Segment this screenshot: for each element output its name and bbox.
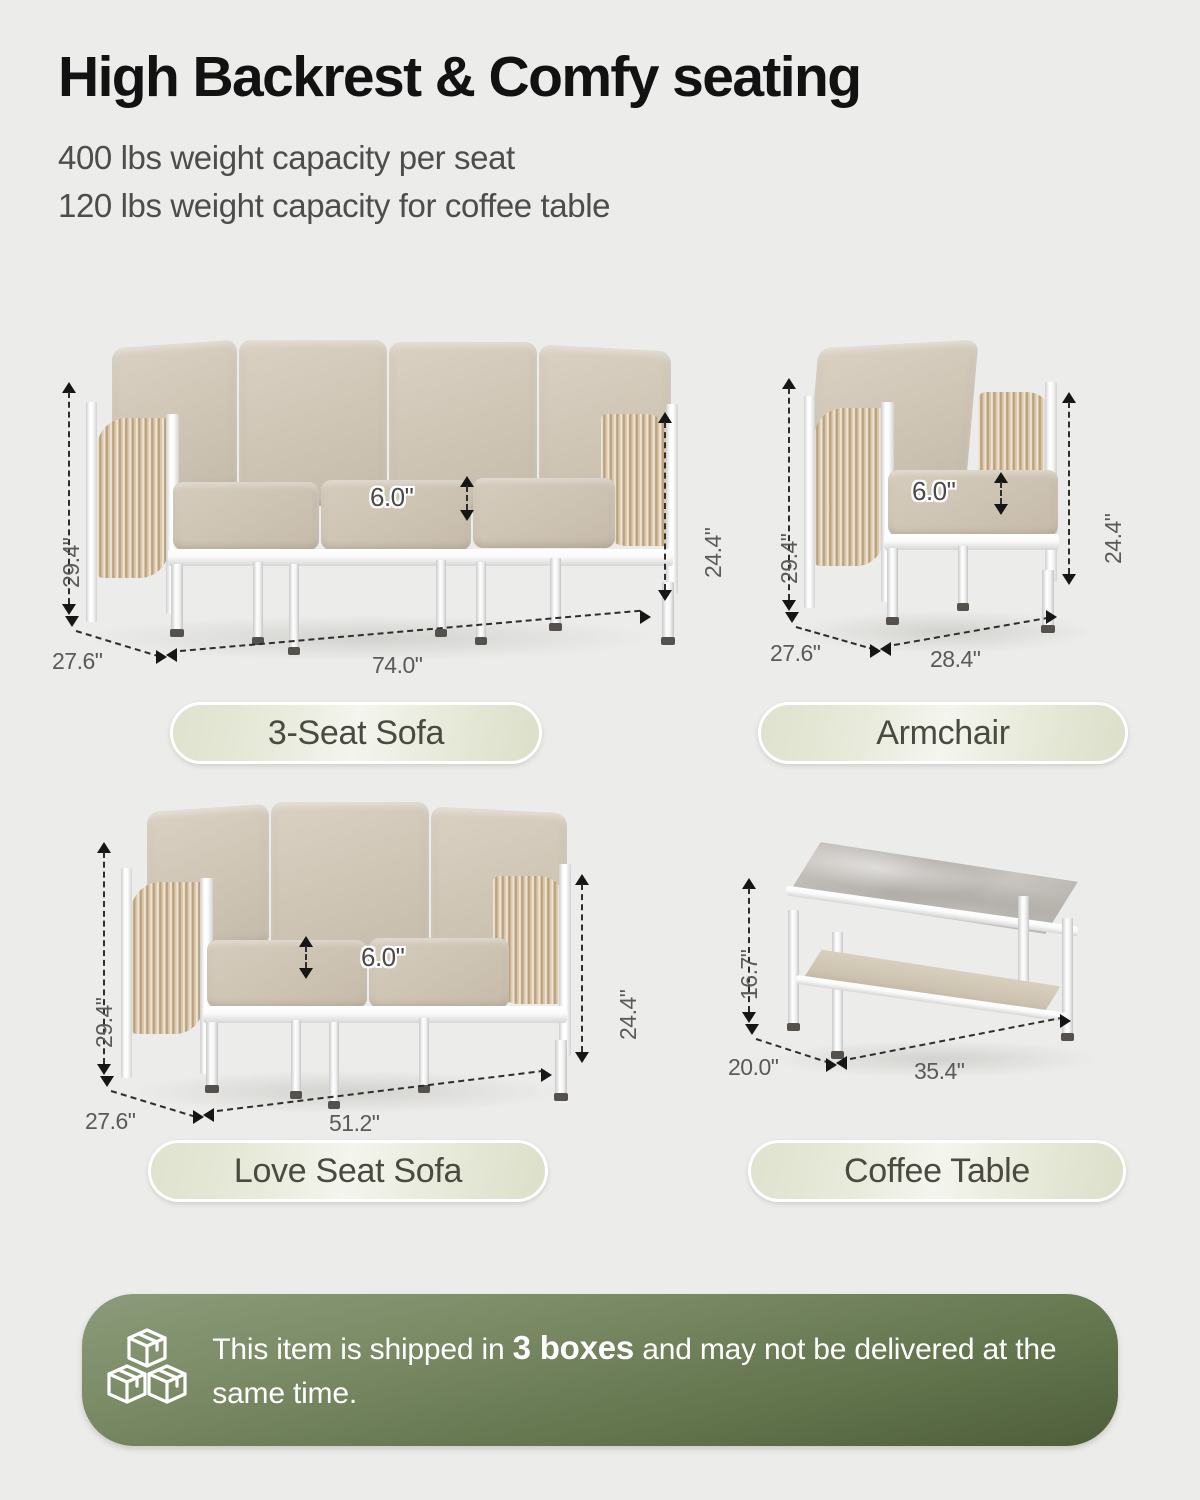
shipping-banner-text: This item is shipped in 3 boxes and may … [212, 1324, 1118, 1415]
leg [291, 1020, 301, 1094]
leg [832, 932, 843, 1054]
stacked-boxes-icon [82, 1324, 212, 1416]
leg [958, 546, 968, 606]
leg [436, 560, 446, 632]
shipping-text-before: This item is shipped in [212, 1333, 512, 1366]
leg [289, 564, 299, 650]
seat-cushion [473, 478, 615, 548]
product-diagram-grid: 29.4" 24.4" 6.0" 27.6" 74.0" [0, 330, 1200, 1260]
rope-arm-left [97, 418, 169, 578]
seat-cushion [207, 940, 367, 1008]
seat-cushion [173, 482, 319, 550]
frame-post [86, 402, 97, 622]
label-pill-armchair: Armchair [758, 702, 1128, 764]
label-pill-three-seat-sofa: 3-Seat Sofa [170, 702, 542, 764]
frame-post [121, 868, 132, 1078]
leg [206, 1022, 218, 1088]
leg [555, 1040, 567, 1096]
shipping-boxes-count: 3 boxes [513, 1329, 635, 1366]
rope-arm-left [131, 882, 203, 1034]
capacity-seat-line: 400 lbs weight capacity per seat [58, 134, 1158, 183]
leg [788, 910, 799, 1026]
seat-rail [884, 534, 1059, 550]
frame-post [559, 864, 571, 1056]
page-title: High Backrest & Comfy seating [58, 48, 1158, 108]
leg [887, 548, 898, 620]
capacity-table-line: 120 lbs weight capacity for coffee table [58, 182, 1158, 231]
seat-rail [203, 1006, 567, 1023]
pill-label: Coffee Table [844, 1152, 1030, 1191]
frame-post [804, 396, 815, 608]
leg [419, 1018, 429, 1088]
label-pill-love-seat-sofa: Love Seat Sofa [148, 1140, 548, 1202]
shipping-banner: This item is shipped in 3 boxes and may … [82, 1294, 1118, 1446]
label-pill-coffee-table: Coffee Table [748, 1140, 1126, 1202]
pill-label: 3-Seat Sofa [268, 714, 444, 753]
header: High Backrest & Comfy seating 400 lbs we… [58, 48, 1158, 231]
leg [171, 564, 183, 632]
leg [476, 562, 486, 640]
rope-arm-left [814, 408, 884, 566]
pill-label: Love Seat Sofa [234, 1152, 462, 1191]
seat-rail [168, 549, 673, 566]
pill-label: Armchair [876, 714, 1010, 753]
capacity-notes: 400 lbs weight capacity per seat 120 lbs… [58, 134, 1158, 231]
leg [253, 562, 263, 640]
leg [329, 1022, 339, 1104]
